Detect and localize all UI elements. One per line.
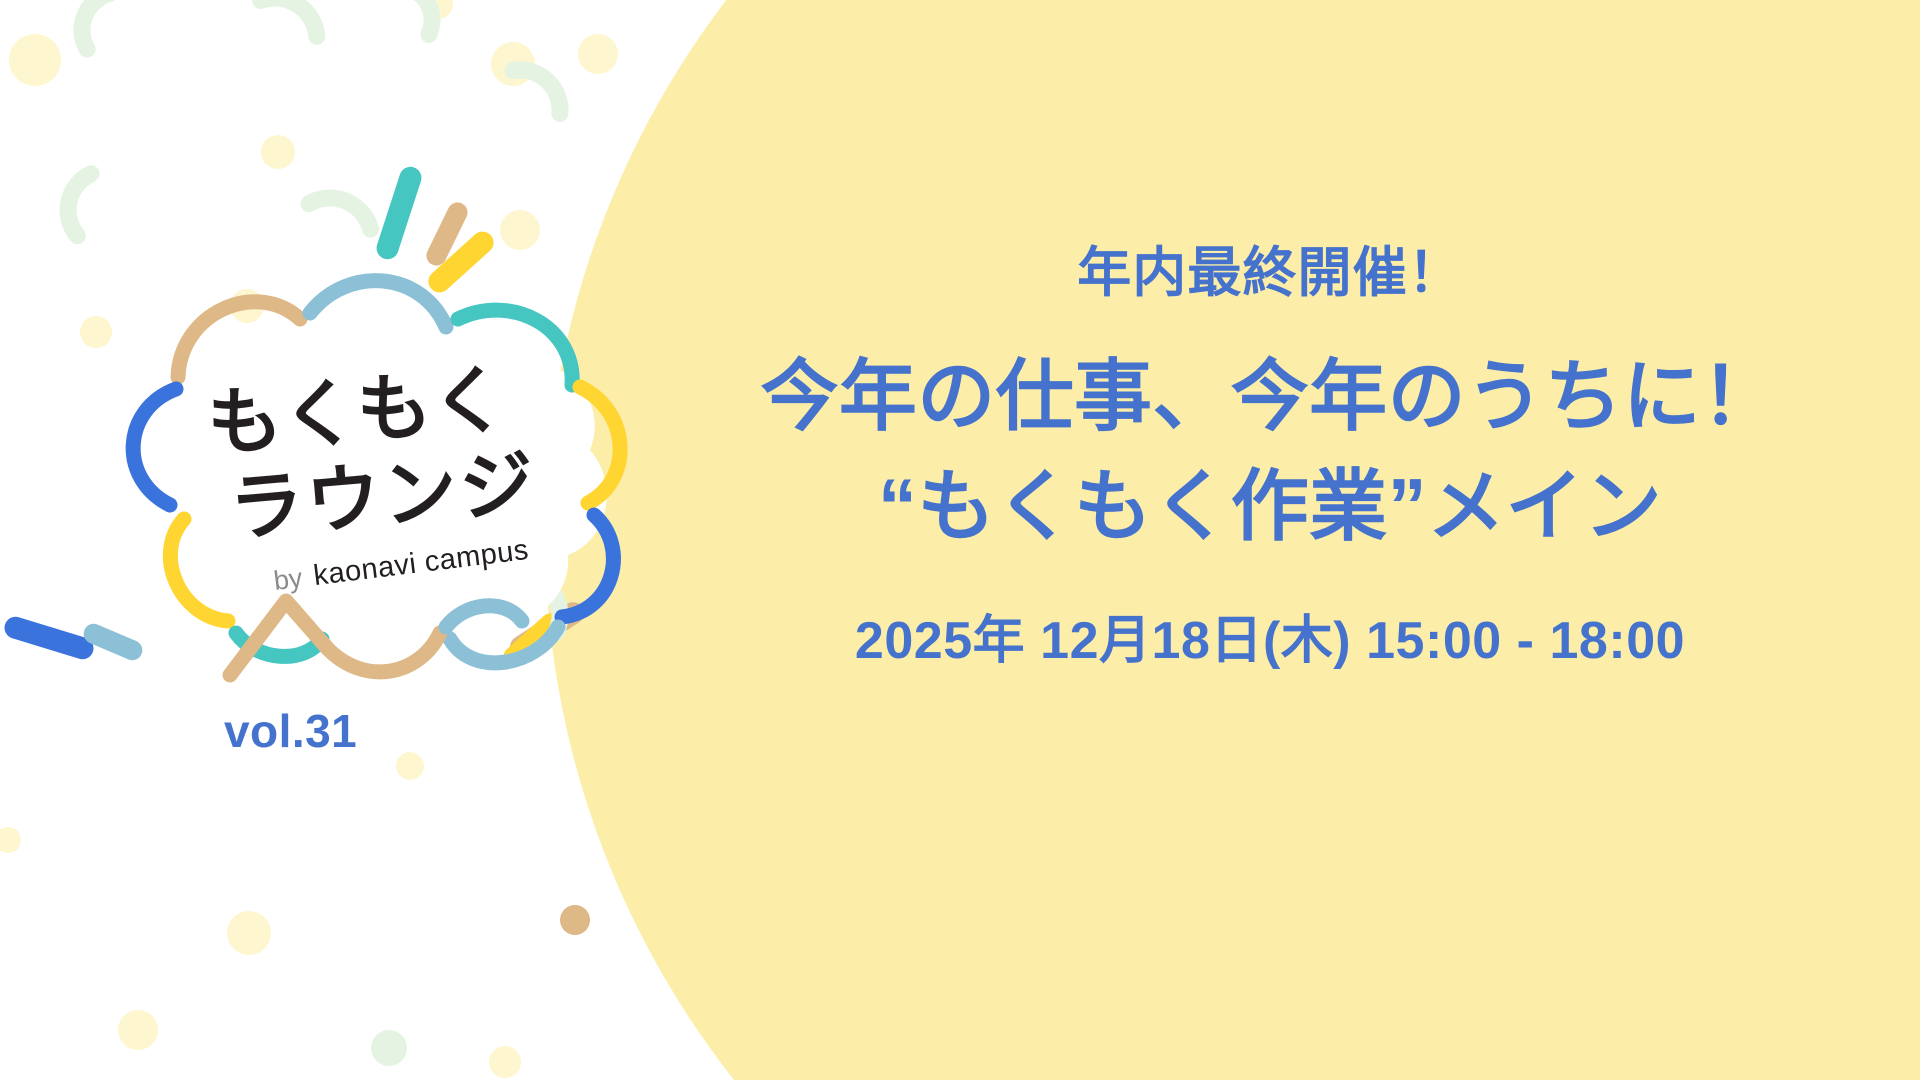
confetti-dot [578,34,618,74]
event-text-column: 年内最終開催！ 今年の仕事、今年のうちに！ “もくもく作業”メイン 2025年 … [620,0,1920,1080]
event-banner: もくもく ラウンジ by kaonavi campus vol.31 年内最終開… [0,0,1920,1080]
confetti-dot [371,1030,407,1066]
confetti-dot [227,911,271,955]
event-kicker: 年内最終開催！ [620,244,1920,303]
confetti-dot [560,905,590,935]
byline-prefix: by [272,563,304,596]
confetti-dot [396,752,424,780]
mokumoku-lounge-logo: もくもく ラウンジ by kaonavi campus [60,235,640,705]
confetti-dot [489,1046,521,1078]
confetti-dot [118,1010,158,1050]
confetti-dot [261,135,295,169]
event-headline-line2: “もくもく作業”メイン [620,462,1920,552]
event-headline-line1: 今年の仕事、今年のうちに！ [620,352,1920,442]
event-datetime: 2025年 12月18日(木) 15:00 - 18:00 [620,613,1920,670]
confetti-dot [9,34,61,86]
volume-label: vol.31 [224,704,357,758]
